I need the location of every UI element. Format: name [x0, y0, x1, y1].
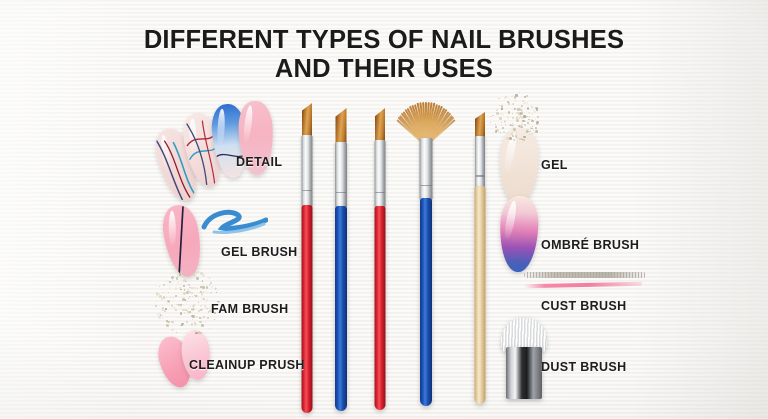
brush-1-handle [302, 205, 313, 413]
poster-canvas: DIFFERENT TYPES OF NAIL BRUSHES AND THEI… [0, 0, 768, 419]
brush-4-handle [420, 198, 432, 406]
brush-3-angled-red [367, 108, 393, 414]
gel-swoosh-stroke [196, 203, 268, 237]
brush-5-bristles [475, 112, 485, 138]
title-line-1: DIFFERENT TYPES OF NAIL BRUSHES [0, 26, 768, 55]
brush-4-fan-blue [404, 100, 448, 415]
brush-5-ferrule [475, 136, 485, 188]
label-cust-brush: CUST BRUSH [541, 299, 626, 313]
brush-1-ferrule [302, 135, 313, 207]
brush-3-ferrule [375, 140, 386, 208]
brush-4-ferrule [420, 138, 433, 200]
label-detail: DETAIL [236, 155, 282, 169]
brush-2-ferrule [335, 142, 347, 208]
nail-gloss [242, 105, 253, 144]
brush-3-handle [375, 206, 386, 410]
label-gel-brush: GEL BRUSH [221, 245, 298, 259]
brush-2-handle [335, 206, 347, 411]
nail-swatch-ombre [499, 195, 540, 272]
title-line-2: AND THEIR USES [0, 55, 768, 84]
label-dust-brush: DUST BRUSH [541, 360, 626, 374]
brush-2-bristles [336, 108, 347, 144]
glitter-scatter-gel [486, 92, 544, 140]
nail-gloss [503, 200, 518, 240]
dust-brush-handle [506, 347, 542, 399]
brush-5-handle [475, 186, 486, 404]
brush-5-flat-wood [468, 112, 492, 410]
brush-3-bristles [375, 108, 385, 142]
cust-pink-stroke [524, 282, 642, 288]
label-cleanup-brush: CLEAINUP PRUSH [189, 358, 305, 372]
label-fan-brush: FAM BRUSH [211, 302, 288, 316]
label-gel: GEL [541, 158, 568, 172]
brush-2-angled-blue [328, 108, 354, 416]
cust-glitter-stroke [524, 272, 646, 278]
brush-1-bristles [302, 103, 312, 137]
label-ombre-brush: OMBRÉ BRUSH [541, 238, 639, 252]
page-title: DIFFERENT TYPES OF NAIL BRUSHES AND THEI… [0, 26, 768, 84]
